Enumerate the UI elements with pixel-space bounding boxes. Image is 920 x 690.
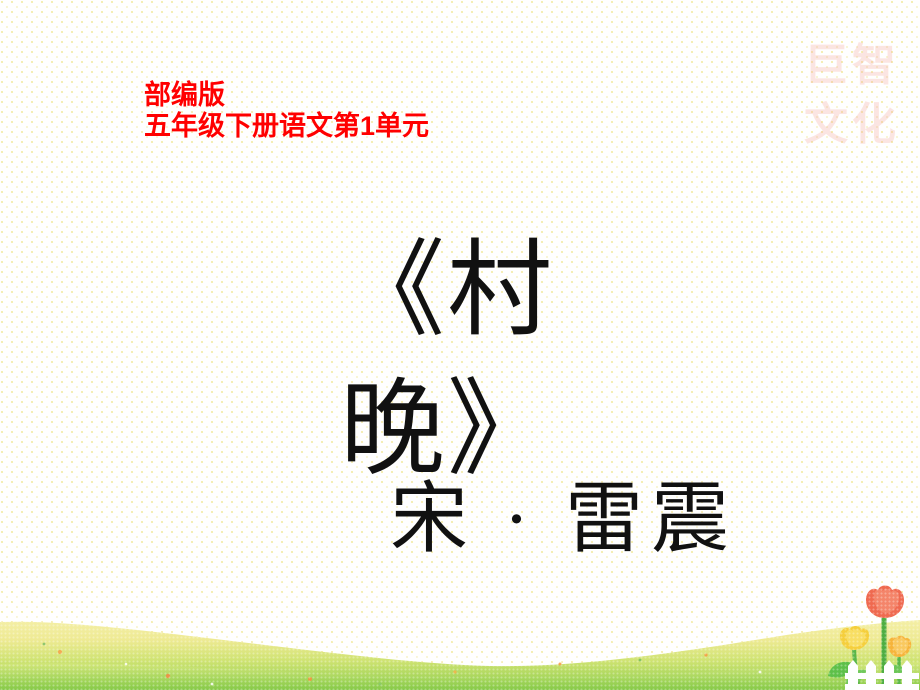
heading-line-edition: 部编版 (144, 80, 429, 111)
poem-author: 宋 · 雷震 (390, 474, 737, 564)
bottom-scenery (0, 580, 920, 690)
slide-canvas: 部编版 五年级下册语文第1单元 巨 智 文 化 《村 晚》 宋 · 雷震 (0, 0, 920, 690)
watermark: 巨 智 文 化 (802, 36, 898, 154)
scenery-svg (0, 580, 920, 690)
watermark-char-1: 巨 (802, 36, 850, 95)
red-tulip (866, 586, 904, 619)
watermark-char-2: 智 (850, 36, 898, 95)
watermark-char-4: 化 (850, 95, 898, 154)
heading-line-unit: 五年级下册语文第1单元 (144, 111, 429, 142)
watermark-char-3: 文 (802, 95, 850, 154)
poem-title: 《村 晚》 (296, 222, 696, 499)
course-heading: 部编版 五年级下册语文第1单元 (144, 80, 429, 143)
